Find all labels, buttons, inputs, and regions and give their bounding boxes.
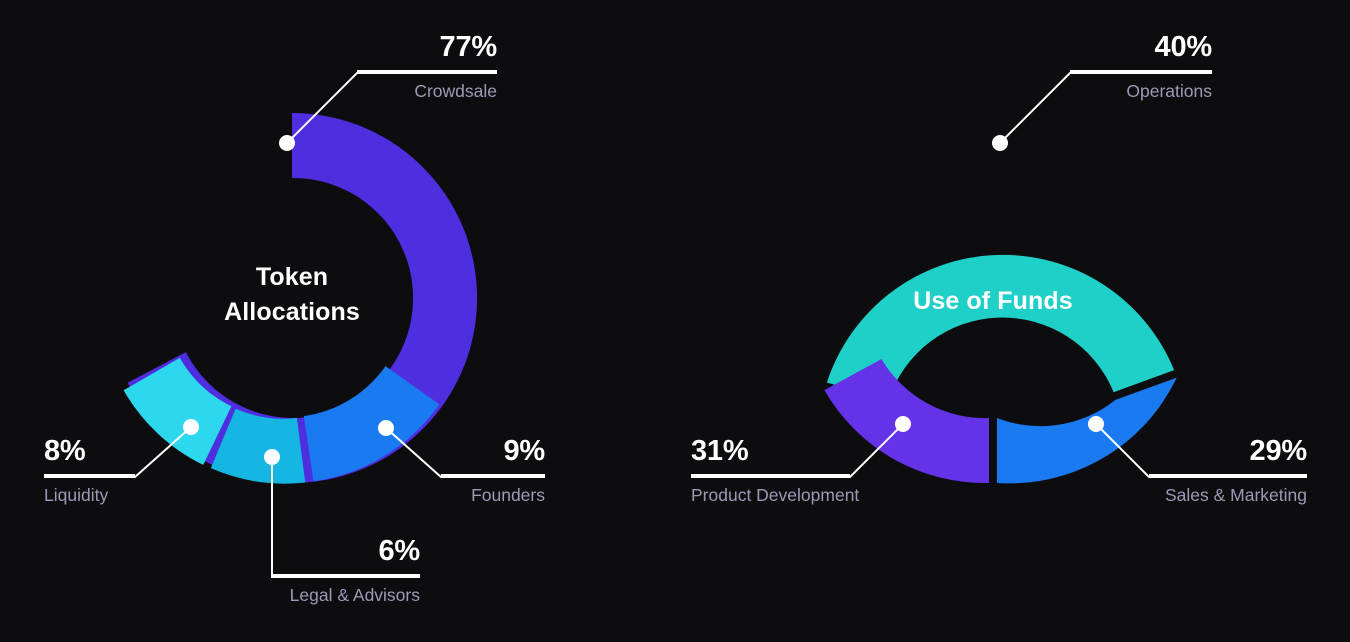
anchor-dot-legal-advisors xyxy=(264,449,280,465)
callout-rule-product-development xyxy=(691,474,850,476)
callout-value-founders: 9% xyxy=(441,437,545,466)
callout-value-liquidity: 8% xyxy=(44,437,135,466)
callout-value-crowdsale: 77% xyxy=(357,33,497,62)
callout-rule-liquidity xyxy=(44,474,135,476)
callout-value-product-development: 31% xyxy=(691,437,850,466)
anchor-dot-sales-marketing xyxy=(1088,416,1104,432)
callout-sales-marketing[interactable]: 29% Sales & Marketing xyxy=(1149,437,1307,505)
callout-label-founders: Founders xyxy=(441,487,545,505)
callout-rule-founders xyxy=(441,474,545,476)
anchor-dot-operations xyxy=(992,135,1008,151)
callout-liquidity[interactable]: 8% Liquidity xyxy=(44,437,135,505)
callout-operations[interactable]: 40% Operations xyxy=(1070,33,1212,101)
callout-label-crowdsale: Crowdsale xyxy=(357,83,497,101)
callout-product-development[interactable]: 31% Product Development xyxy=(691,437,850,505)
anchor-dot-liquidity xyxy=(183,419,199,435)
callout-legal-advisors[interactable]: 6% Legal & Advisors xyxy=(272,537,420,605)
anchor-dot-crowdsale xyxy=(279,135,295,151)
callout-label-liquidity: Liquidity xyxy=(44,487,135,505)
donut-svg-use-of-funds xyxy=(675,0,1350,642)
callout-rule-legal-advisors xyxy=(272,574,420,576)
callout-rule-sales-marketing xyxy=(1149,474,1307,476)
chart-use-of-funds: Use of Funds 40% Operations 31% Product … xyxy=(675,0,1350,642)
infographic-canvas: Token Allocations 77% Crowdsale 8% Liqui… xyxy=(0,0,1350,642)
callout-label-product-development: Product Development xyxy=(691,487,850,505)
callout-value-operations: 40% xyxy=(1070,33,1212,62)
callout-crowdsale[interactable]: 77% Crowdsale xyxy=(357,33,497,101)
callout-value-legal-advisors: 6% xyxy=(272,537,420,566)
callout-label-sales-marketing: Sales & Marketing xyxy=(1149,487,1307,505)
chart-token-allocations: Token Allocations 77% Crowdsale 8% Liqui… xyxy=(0,0,675,642)
callout-label-legal-advisors: Legal & Advisors xyxy=(272,587,420,605)
callout-value-sales-marketing: 29% xyxy=(1149,437,1307,466)
callout-founders[interactable]: 9% Founders xyxy=(441,437,545,505)
anchor-dot-product-development xyxy=(895,416,911,432)
callout-rule-operations xyxy=(1070,70,1212,72)
callout-rule-crowdsale xyxy=(357,70,497,72)
anchor-dot-founders xyxy=(378,420,394,436)
callout-label-operations: Operations xyxy=(1070,83,1212,101)
